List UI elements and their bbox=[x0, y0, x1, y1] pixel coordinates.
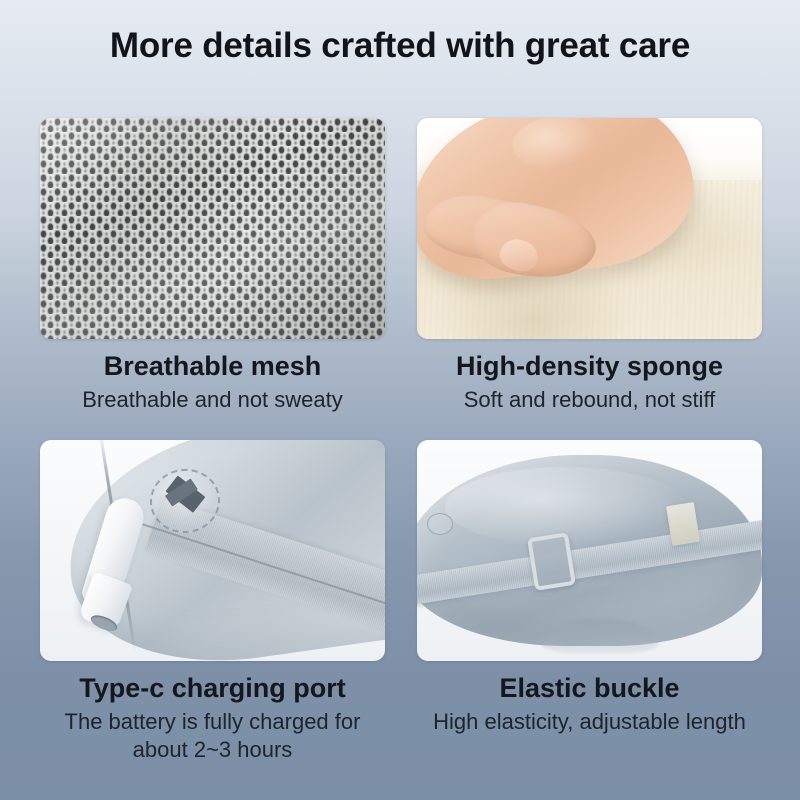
feature-card-type-c-charging-port[interactable]: Type-c charging port The battery is full… bbox=[40, 440, 385, 765]
feature-description: Breathable and not sweaty bbox=[40, 386, 385, 414]
buckle-slider bbox=[527, 532, 576, 591]
feature-heading: Breathable mesh bbox=[40, 351, 385, 381]
feature-heading: Type-c charging port bbox=[40, 673, 385, 703]
feature-card-high-density-sponge[interactable]: High-density sponge Soft and rebound, no… bbox=[417, 118, 762, 440]
elastic-buckle-image bbox=[417, 440, 762, 661]
type-c-charging-port-image bbox=[40, 440, 385, 661]
breathable-mesh-image bbox=[40, 118, 385, 339]
high-density-sponge-image bbox=[417, 118, 762, 339]
feature-card-elastic-buckle[interactable]: Elastic buckle High elasticity, adjustab… bbox=[417, 440, 762, 765]
feature-description: High elasticity, adjustable length bbox=[417, 708, 762, 736]
feature-description: The battery is fully charged for about 2… bbox=[40, 708, 385, 764]
feature-grid: Breathable mesh Breathable and not sweat… bbox=[40, 118, 762, 765]
band-clip bbox=[666, 502, 699, 546]
page-title: More details crafted with great care bbox=[0, 26, 800, 66]
feature-heading: Elastic buckle bbox=[417, 673, 762, 703]
feature-card-breathable-mesh[interactable]: Breathable mesh Breathable and not sweat… bbox=[40, 118, 385, 440]
knuckle-highlight bbox=[511, 118, 601, 173]
feature-heading: High-density sponge bbox=[417, 351, 762, 381]
feature-description: Soft and rebound, not stiff bbox=[417, 386, 762, 414]
promo-page: More details crafted with great care Bre… bbox=[0, 0, 800, 800]
